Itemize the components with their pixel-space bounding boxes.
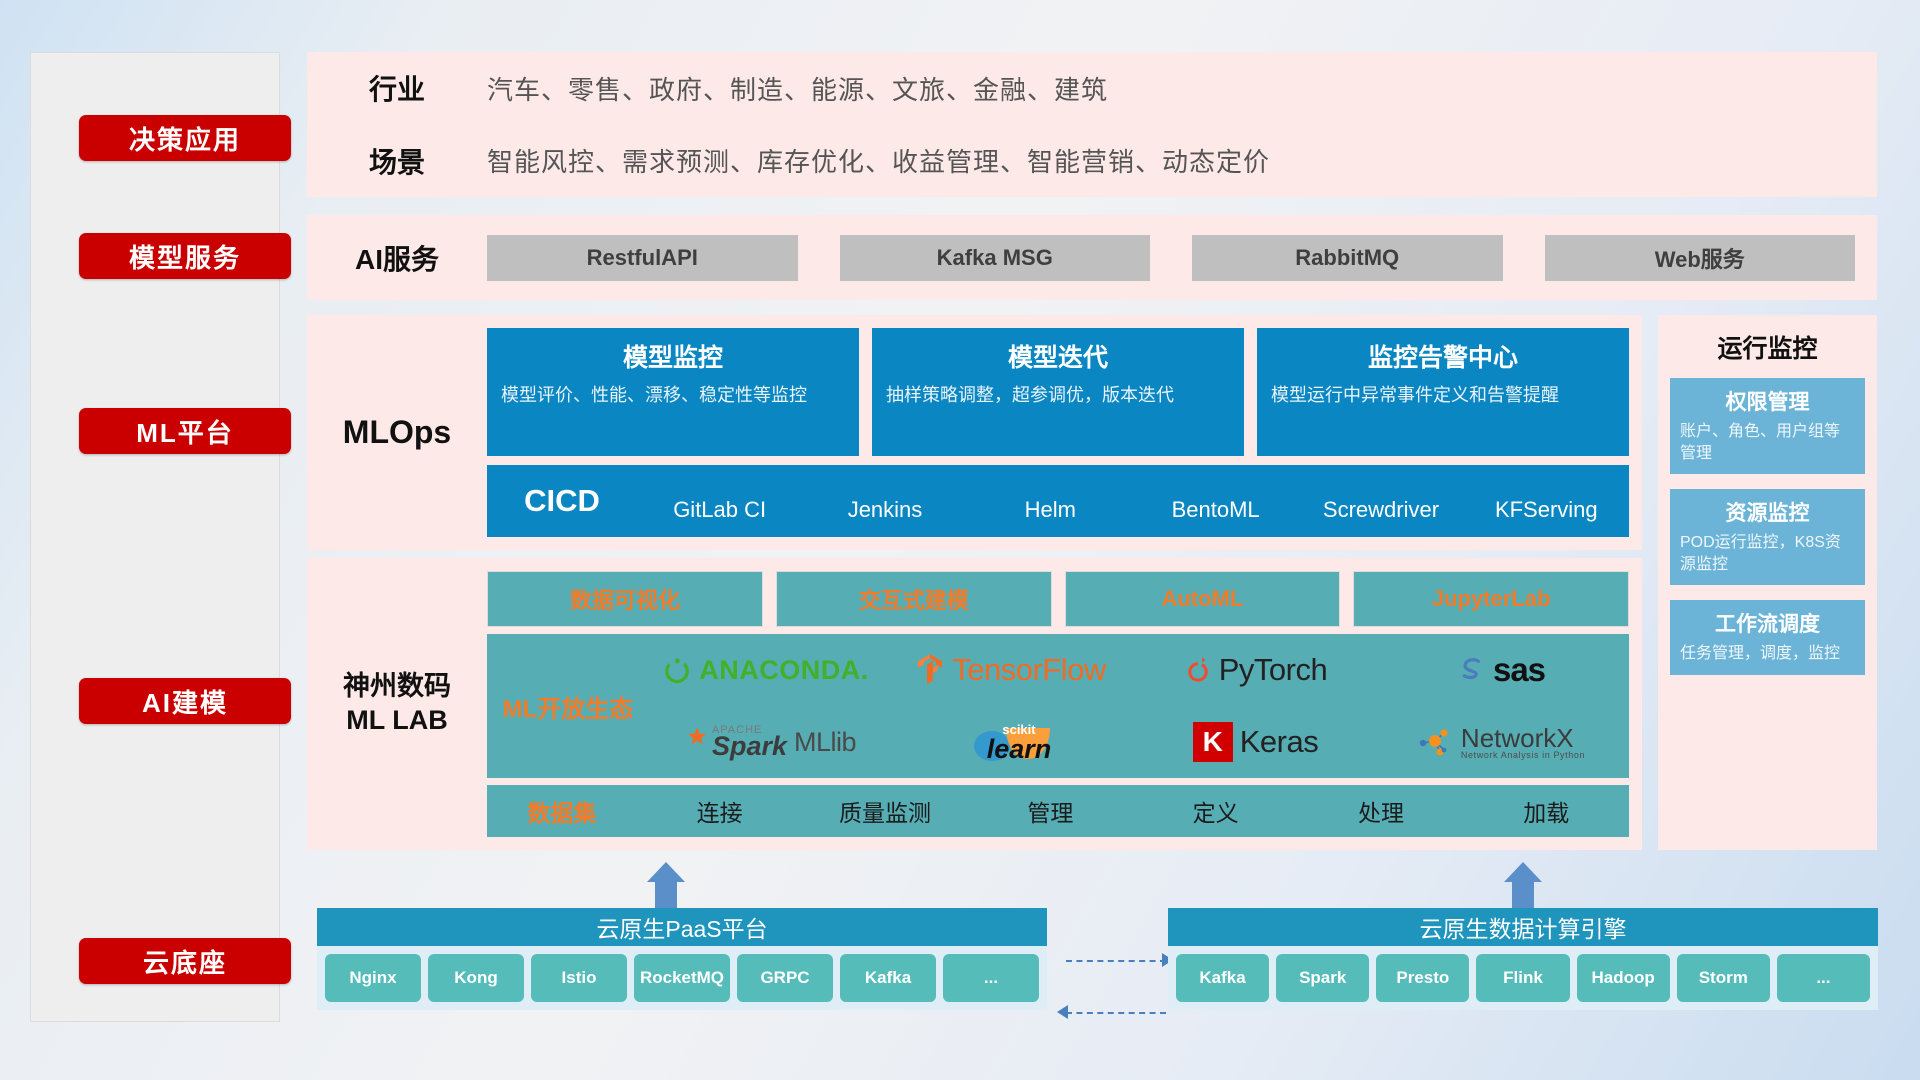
keras-logo: K Keras — [1193, 722, 1318, 762]
card-title: 工作流调度 — [1680, 608, 1855, 638]
dataset-item-define[interactable]: 定义 — [1133, 794, 1298, 828]
ml-lab-label-line2: ML LAB — [346, 704, 448, 738]
cloud-paas-title: 云原生PaaS平台 — [317, 908, 1047, 946]
pytorch-logo: PyTorch — [1184, 652, 1327, 688]
networkx-text: NetworkX — [1461, 725, 1585, 751]
mlops-label: MLOps — [307, 315, 487, 550]
card-desc: 账户、角色、用户组等管理 — [1680, 421, 1855, 464]
rail-tag-cloud-base[interactable]: 云底座 — [79, 938, 291, 984]
cicd-row: CICD GitLab CI Jenkins Helm BentoML Scre… — [487, 465, 1629, 537]
runtime-monitor-title: 运行监控 — [1658, 315, 1877, 378]
ml-lab-label: 神州数码 ML LAB — [307, 558, 487, 850]
cloud-compute-title: 云原生数据计算引擎 — [1168, 908, 1878, 946]
keras-wordmark: Keras — [1240, 724, 1318, 760]
card-title: 模型监控 — [501, 338, 845, 374]
mlops-card-model-monitoring[interactable]: 模型监控 模型评价、性能、漂移、稳定性等监控 — [487, 328, 859, 456]
card-desc: 抽样策略调整，超参调优，版本迭代 — [886, 383, 1230, 407]
monitor-card-resource[interactable]: 资源监控 POD运行监控，K8S资源监控 — [1670, 489, 1865, 585]
spark-mllib-logo: APACHE Spark MLlib — [675, 725, 856, 759]
tensorflow-icon — [915, 653, 945, 687]
cicd-item-bentoml[interactable]: BentoML — [1133, 482, 1298, 521]
dataset-item-manage[interactable]: 管理 — [968, 794, 1133, 828]
dataset-item-load[interactable]: 加载 — [1464, 794, 1629, 828]
ml-ecosystem-row: ML开放生态 ANACONDA. — [487, 634, 1629, 778]
card-desc: 模型运行中异常事件定义和告警提醒 — [1271, 383, 1615, 407]
service-chip-rabbitmq[interactable]: RabbitMQ — [1192, 235, 1503, 281]
lab-tool-interactive-modeling[interactable]: 交互式建模 — [776, 571, 1052, 627]
dataset-item-connect[interactable]: 连接 — [637, 794, 802, 828]
industry-label: 行业 — [307, 68, 487, 108]
cicd-item-gitlab-ci[interactable]: GitLab CI — [637, 482, 802, 521]
dataset-item-process[interactable]: 处理 — [1298, 794, 1463, 828]
paas-chip-more[interactable]: ... — [943, 954, 1039, 1002]
card-title: 资源监控 — [1680, 497, 1855, 527]
spark-wordmark-group: APACHE Spark — [712, 726, 787, 758]
ai-service-band: AI服务 RestfulAPI Kafka MSG RabbitMQ Web服务 — [307, 215, 1877, 300]
card-title: 权限管理 — [1680, 386, 1855, 416]
spark-star-icon — [675, 725, 709, 759]
anaconda-wordmark: ANACONDA. — [699, 655, 869, 686]
pytorch-icon — [1184, 654, 1212, 686]
paas-chip-istio[interactable]: Istio — [531, 954, 627, 1002]
sas-logo: sas — [1456, 651, 1545, 689]
mlops-band: MLOps 模型监控 模型评价、性能、漂移、稳定性等监控 模型迭代 抽样策略调整… — [307, 315, 1642, 550]
paas-chip-kafka[interactable]: Kafka — [840, 954, 936, 1002]
compute-chip-storm[interactable]: Storm — [1677, 954, 1770, 1002]
monitor-card-permission[interactable]: 权限管理 账户、角色、用户组等管理 — [1670, 378, 1865, 474]
tensorflow-logo: TensorFlow — [915, 652, 1106, 688]
mlops-card-alert-center[interactable]: 监控告警中心 模型运行中异常事件定义和告警提醒 — [1257, 328, 1629, 456]
runtime-monitor-panel: 运行监控 权限管理 账户、角色、用户组等管理 资源监控 POD运行监控，K8S资… — [1658, 315, 1877, 850]
pytorch-wordmark: PyTorch — [1219, 652, 1327, 688]
lab-tool-jupyterlab[interactable]: JupyterLab — [1353, 571, 1629, 627]
mllib-wordmark: MLlib — [794, 727, 856, 758]
anaconda-logo: ANACONDA. — [662, 655, 869, 686]
card-desc: 模型评价、性能、漂移、稳定性等监控 — [501, 383, 845, 407]
rail-tag-decision-app[interactable]: 决策应用 — [79, 115, 291, 161]
paas-chip-grpc[interactable]: GRPC — [737, 954, 833, 1002]
networkx-tagline: Network Analysis in Python — [1461, 751, 1585, 760]
scikit-learn-logo: scikit learn — [970, 718, 1052, 766]
card-desc: 任务管理，调度，监控 — [1680, 643, 1855, 665]
cicd-item-kfserving[interactable]: KFServing — [1464, 482, 1629, 521]
learn-text: learn — [987, 737, 1052, 761]
spark-text: Spark — [712, 735, 787, 758]
rail-tag-ml-platform[interactable]: ML平台 — [79, 408, 291, 454]
cloud-compute-box: 云原生数据计算引擎 Kafka Spark Presto Flink Hadoo… — [1168, 908, 1878, 1010]
paas-chip-nginx[interactable]: Nginx — [325, 954, 421, 1002]
card-title: 模型迭代 — [886, 338, 1230, 374]
industry-value: 汽车、零售、政府、制造、能源、文旅、金融、建筑 — [487, 70, 1877, 107]
ml-lab-band: 神州数码 ML LAB 数据可视化 交互式建模 AutoML JupyterLa… — [307, 558, 1642, 850]
scenario-value: 智能风控、需求预测、库存优化、收益管理、智能营销、动态定价 — [487, 142, 1877, 179]
compute-chip-more[interactable]: ... — [1777, 954, 1870, 1002]
stack-layer-rail: 决策应用 模型服务 ML平台 AI建模 云底座 — [30, 52, 280, 1022]
cicd-item-helm[interactable]: Helm — [968, 482, 1133, 521]
compute-chip-presto[interactable]: Presto — [1376, 954, 1469, 1002]
service-chip-restfulapi[interactable]: RestfulAPI — [487, 235, 798, 281]
sas-wordmark: sas — [1493, 651, 1545, 689]
ai-service-label: AI服务 — [307, 238, 487, 278]
paas-chip-rocketmq[interactable]: RocketMQ — [634, 954, 730, 1002]
compute-chip-spark[interactable]: Spark — [1276, 954, 1369, 1002]
networkx-graph-icon — [1416, 725, 1454, 759]
decision-app-band: 行业 汽车、零售、政府、制造、能源、文旅、金融、建筑 场景 智能风控、需求预测、… — [307, 52, 1877, 197]
dataset-row: 数据集 连接 质量监测 管理 定义 处理 加载 — [487, 785, 1629, 837]
tensorflow-wordmark: TensorFlow — [952, 652, 1106, 688]
lab-tool-data-visualization[interactable]: 数据可视化 — [487, 571, 763, 627]
service-chip-web[interactable]: Web服务 — [1545, 235, 1856, 281]
cicd-item-screwdriver[interactable]: Screwdriver — [1298, 482, 1463, 521]
anaconda-icon — [662, 655, 692, 685]
ml-lab-label-line1: 神州数码 — [343, 670, 451, 704]
rail-tag-ai-modeling[interactable]: AI建模 — [79, 678, 291, 724]
rail-tag-model-service[interactable]: 模型服务 — [79, 233, 291, 279]
dataset-label: 数据集 — [487, 794, 637, 828]
scikit-learn-wordmark: scikit learn — [987, 722, 1052, 761]
networkx-logo: NetworkX Network Analysis in Python — [1416, 725, 1585, 760]
lab-tool-automl[interactable]: AutoML — [1065, 571, 1341, 627]
card-desc: POD运行监控，K8S资源监控 — [1680, 532, 1855, 575]
service-chip-kafka-msg[interactable]: Kafka MSG — [840, 235, 1151, 281]
scenario-label: 场景 — [307, 141, 487, 181]
mlops-card-model-iteration[interactable]: 模型迭代 抽样策略调整，超参调优，版本迭代 — [872, 328, 1244, 456]
cicd-label: CICD — [487, 483, 637, 519]
ml-ecosystem-label: ML开放生态 — [493, 689, 643, 724]
monitor-card-workflow[interactable]: 工作流调度 任务管理，调度，监控 — [1670, 600, 1865, 675]
card-title: 监控告警中心 — [1271, 338, 1615, 374]
compute-chip-kafka[interactable]: Kafka — [1176, 954, 1269, 1002]
keras-mark-icon: K — [1193, 722, 1233, 762]
compute-chip-hadoop[interactable]: Hadoop — [1577, 954, 1670, 1002]
diagram-canvas: 决策应用 模型服务 ML平台 AI建模 云底座 行业 汽车、零售、政府、制造、能… — [0, 0, 1920, 1080]
cloud-paas-box: 云原生PaaS平台 Nginx Kong Istio RocketMQ GRPC… — [317, 908, 1047, 1010]
paas-chip-kong[interactable]: Kong — [428, 954, 524, 1002]
networkx-wordmark-group: NetworkX Network Analysis in Python — [1461, 725, 1585, 760]
dataset-item-quality-monitoring[interactable]: 质量监测 — [802, 794, 967, 828]
cicd-item-jenkins[interactable]: Jenkins — [802, 482, 967, 521]
sas-icon — [1456, 655, 1486, 685]
compute-chip-flink[interactable]: Flink — [1476, 954, 1569, 1002]
